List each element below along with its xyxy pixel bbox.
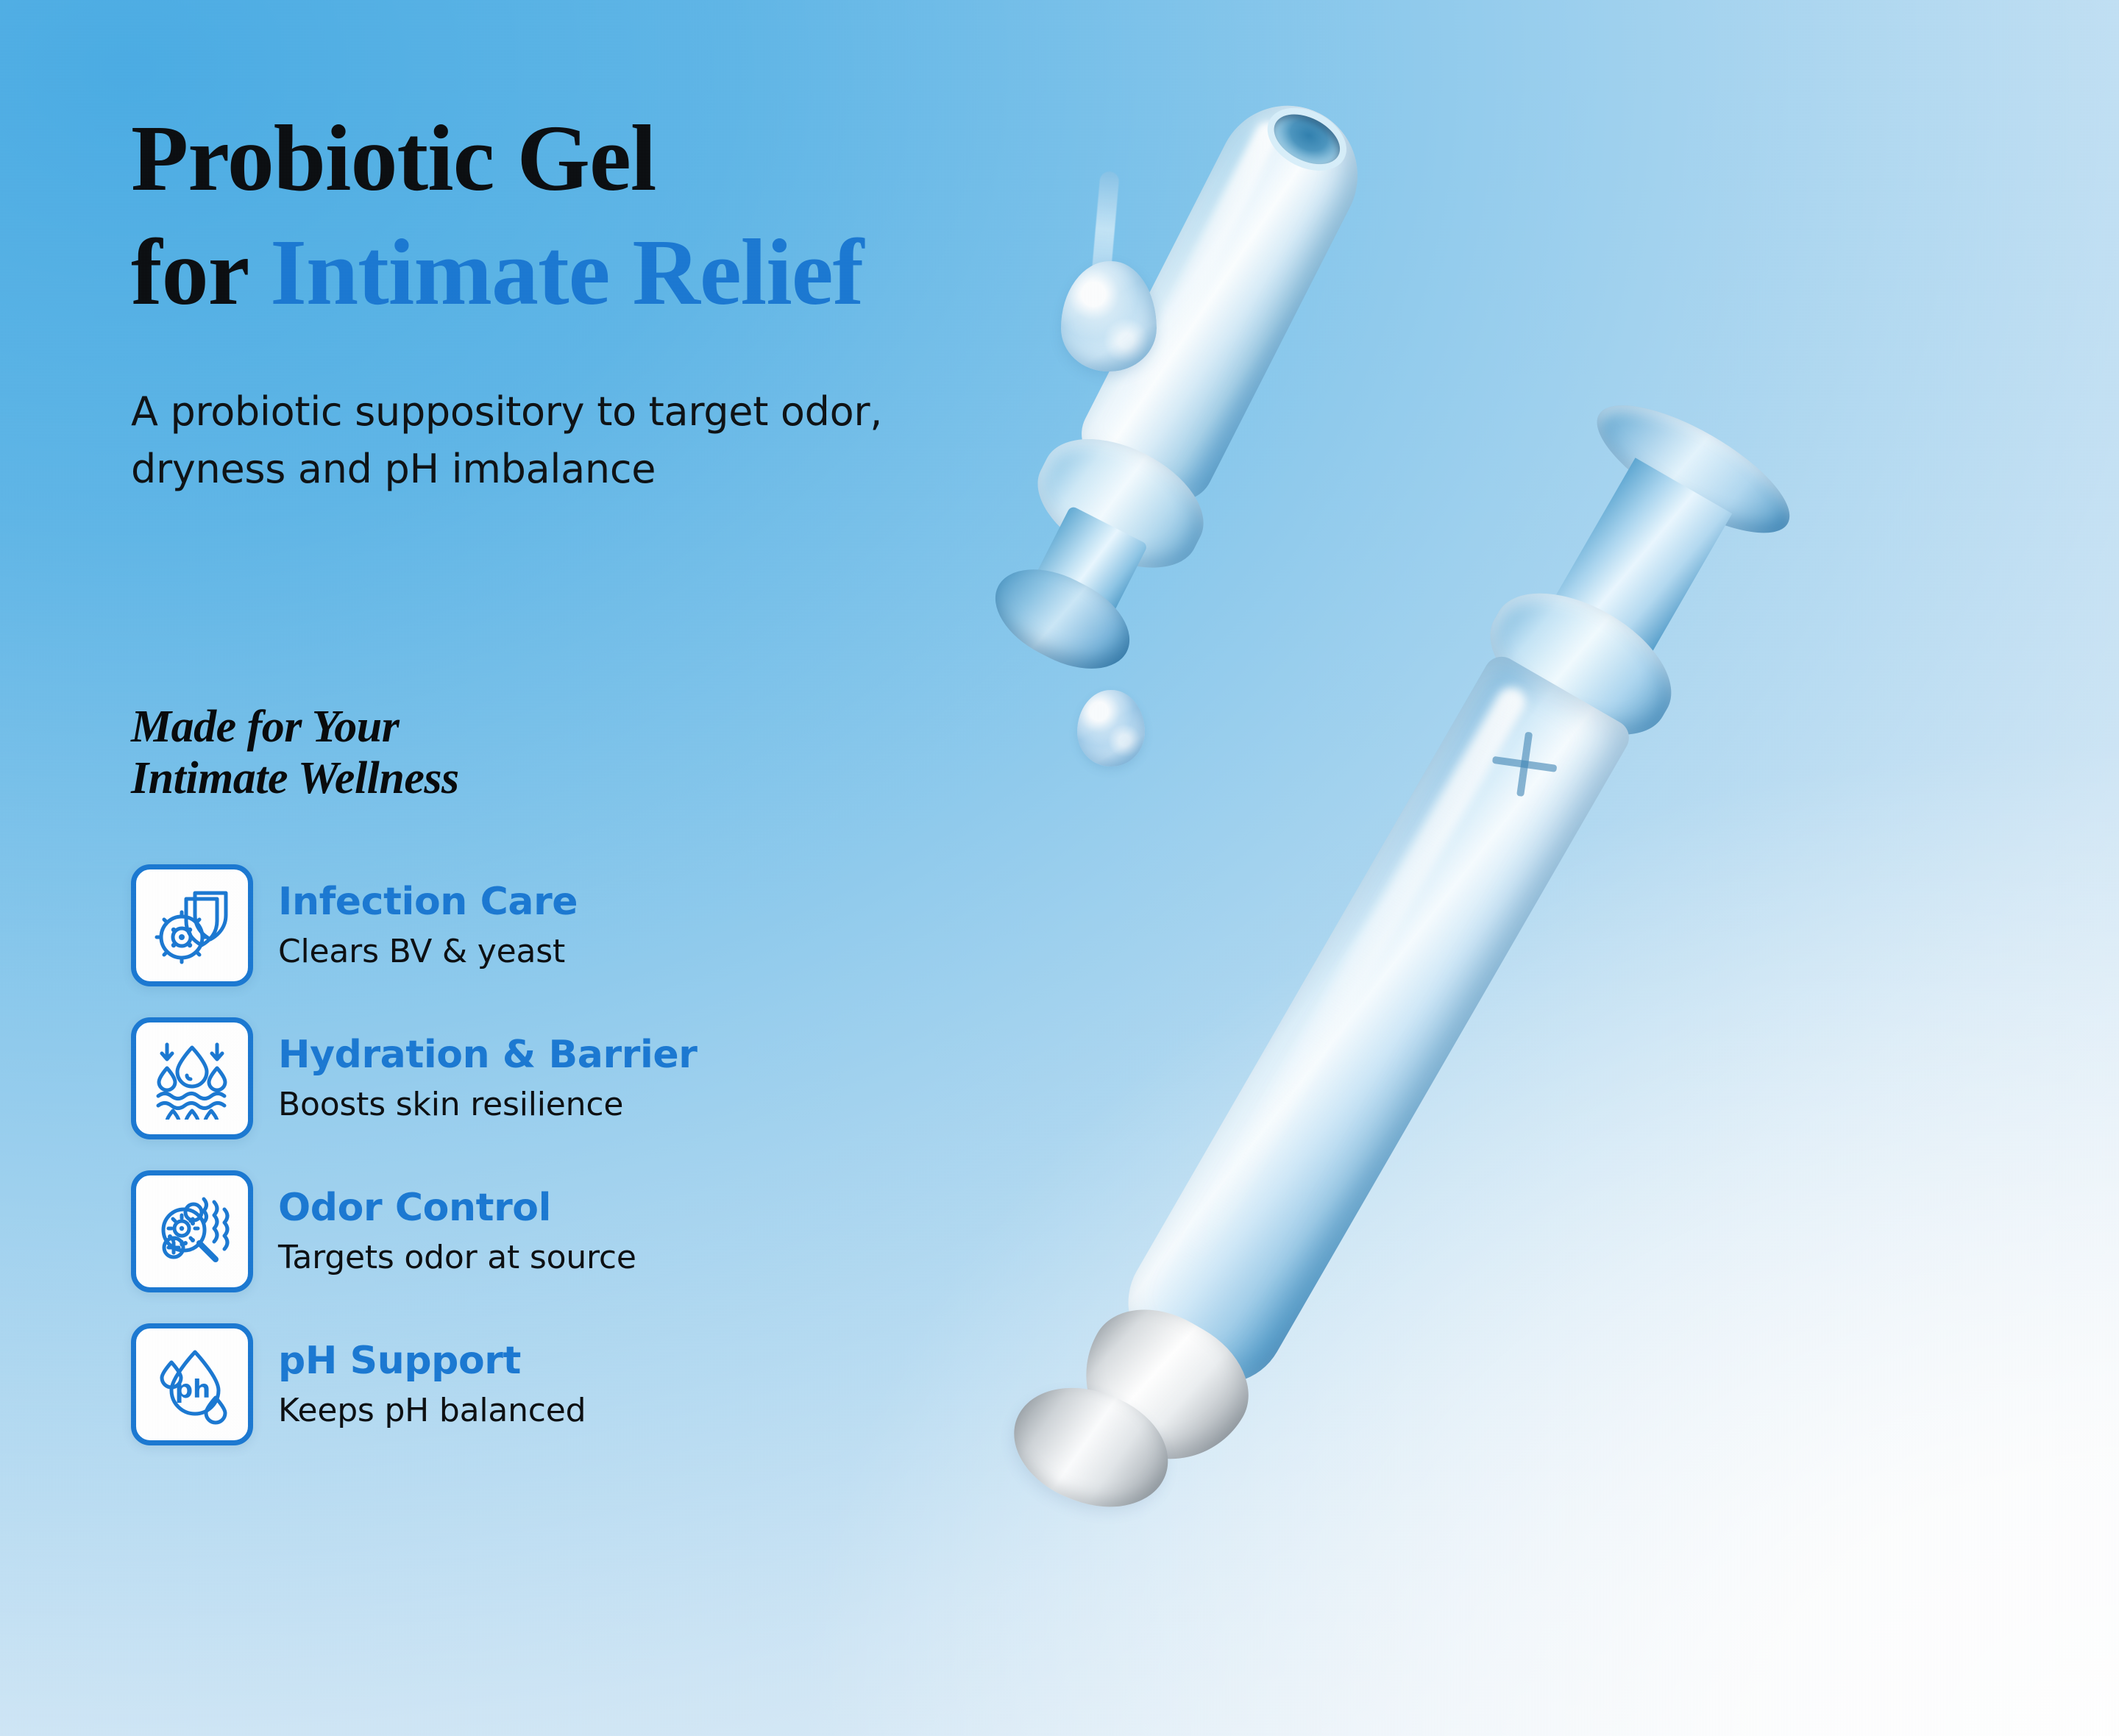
- feature-text-odor-control: Odor Control Targets odor at source: [278, 1187, 636, 1276]
- headline-accent: Intimate Relief: [270, 220, 863, 324]
- virus-shield-icon: [131, 864, 253, 986]
- feature-item-ph-support: ph pH Support Keeps pH balanced: [131, 1308, 1132, 1461]
- features-section-title-line-2: Intimate Wellness: [131, 753, 459, 803]
- headline-line-2-prefix: for: [131, 220, 270, 324]
- features-section-title: Made for Your Intimate Wellness: [131, 701, 1132, 805]
- product-hero-banner: Probiotic Gel for Intimate Relief A prob…: [0, 0, 2119, 1736]
- headline-line-1: Probiotic Gel: [131, 106, 656, 210]
- applicator-large-flange: [1580, 382, 1806, 557]
- headline-line-2: for Intimate Relief: [131, 224, 1132, 321]
- feature-text-infection-care: Infection Care Clears BV & yeast: [278, 881, 578, 970]
- ph-icon-text: ph: [175, 1375, 211, 1404]
- feature-text-ph-support: pH Support Keeps pH balanced: [278, 1340, 586, 1429]
- applicator-large: [1054, 392, 1789, 1487]
- feature-item-odor-control: Odor Control Targets odor at source: [131, 1155, 1132, 1308]
- applicator-small-tip-opening: [1266, 104, 1348, 174]
- copy-column: Probiotic Gel for Intimate Relief A prob…: [131, 0, 1132, 1736]
- feature-title: pH Support: [278, 1340, 586, 1382]
- subtitle: A probiotic suppository to target odor, …: [131, 383, 1036, 498]
- feature-item-hydration-barrier: Hydration & Barrier Boosts skin resilien…: [131, 1002, 1132, 1155]
- ph-droplet-icon: ph: [131, 1323, 253, 1445]
- page-title: Probiotic Gel for Intimate Relief: [131, 110, 1132, 320]
- applicator-small-highlight: [1122, 117, 1285, 404]
- applicator-large-barrel: [1105, 650, 1636, 1406]
- odor-magnifier-icon: [131, 1170, 253, 1292]
- feature-desc: Clears BV & yeast: [278, 933, 578, 970]
- feature-title: Odor Control: [278, 1187, 636, 1229]
- applicator-large-cross-mark: [1488, 728, 1561, 800]
- hydration-barrier-icon: [131, 1017, 253, 1139]
- feature-desc: Boosts skin resilience: [278, 1086, 698, 1123]
- applicator-large-highlight: [1175, 682, 1532, 1270]
- feature-title: Hydration & Barrier: [278, 1034, 698, 1076]
- feature-item-infection-care: Infection Care Clears BV & yeast: [131, 849, 1132, 1002]
- feature-title: Infection Care: [278, 881, 578, 923]
- feature-text-hydration-barrier: Hydration & Barrier Boosts skin resilien…: [278, 1034, 698, 1123]
- feature-desc: Keeps pH balanced: [278, 1392, 586, 1429]
- feature-desc: Targets odor at source: [278, 1239, 636, 1276]
- features-section-title-line-1: Made for Your: [131, 702, 399, 752]
- applicator-large-collar: [1468, 566, 1694, 762]
- feature-list: Infection Care Clears BV & yeast: [131, 849, 1132, 1461]
- applicator-large-neck: [1547, 458, 1733, 666]
